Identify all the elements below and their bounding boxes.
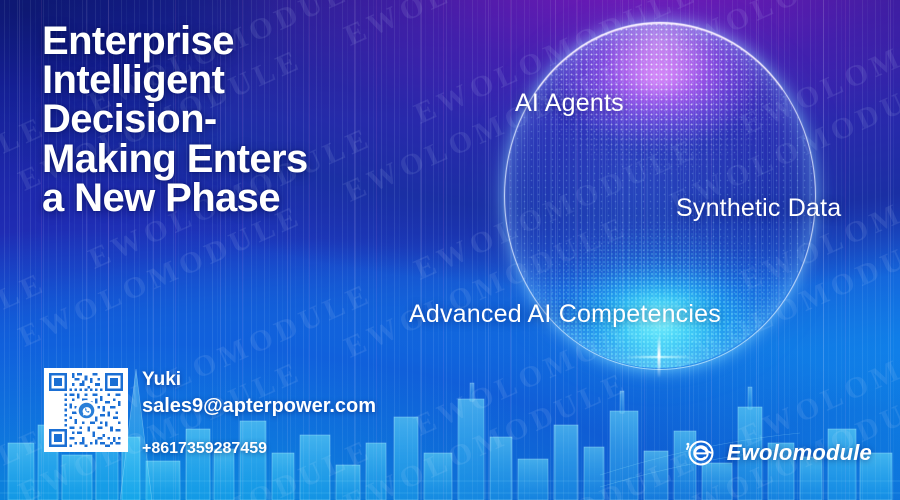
contact-block: Yuki sales9@apterpower.com +861735928745…	[44, 368, 376, 458]
promo-banner: EWOLOMODULE EWOLOMODULE EWOLOMODULE EWOL…	[0, 0, 900, 500]
ewolomodule-circle-e-icon	[684, 436, 718, 470]
contact-name: Yuki	[142, 369, 376, 391]
brand-name: Ewolomodule	[727, 440, 872, 466]
contact-details: Yuki sales9@apterpower.com +861735928745…	[142, 368, 376, 458]
headline-line-4: Making Enters	[42, 140, 442, 179]
contact-email[interactable]: sales9@apterpower.com	[142, 391, 376, 421]
page-title: Enterprise Intelligent Decision- Making …	[42, 22, 442, 218]
whatsapp-glyph	[78, 402, 95, 419]
headline-line-2: Intelligent	[42, 61, 442, 100]
headline-line-5: a New Phase	[42, 179, 442, 218]
brand-logo: Ewolomodule	[684, 436, 872, 470]
globe-label-advanced-ai-competencies: Advanced AI Competencies	[409, 300, 721, 329]
globe-label-ai-agents: AI Agents	[515, 89, 624, 118]
qr-code[interactable]	[44, 368, 128, 452]
contact-phone[interactable]: +8617359287459	[142, 439, 376, 458]
globe-label-synthetic-data: Synthetic Data	[676, 194, 841, 223]
headline-line-1: Enterprise	[42, 22, 442, 61]
whatsapp-icon	[76, 400, 96, 420]
headline-line-3: Decision-	[42, 100, 442, 139]
